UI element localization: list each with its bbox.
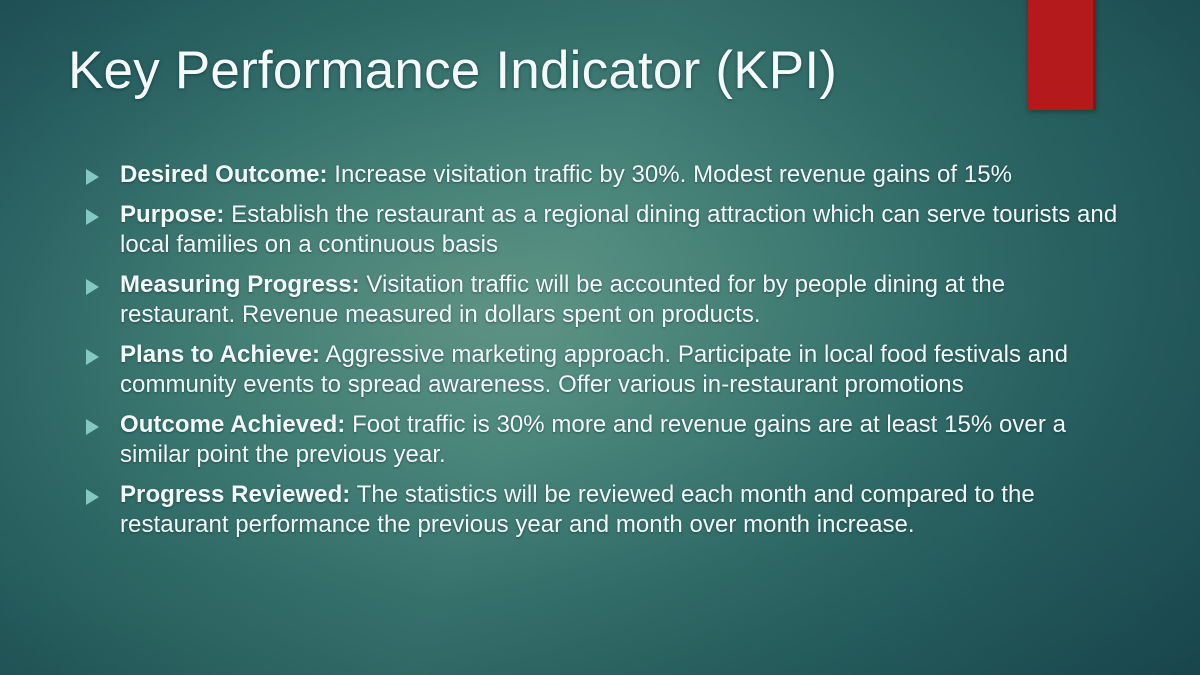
bullet-paragraph: Outcome Achieved: Foot traffic is 30% mo… [120,410,1126,471]
list-item: Outcome Achieved: Foot traffic is 30% mo… [84,410,1126,471]
bullet-paragraph: Measuring Progress: Visitation traffic w… [120,270,1126,331]
bullet-body: Establish the restaurant as a regional d… [120,201,1117,259]
bullet-label: Progress Reviewed: [120,481,350,508]
list-item: Desired Outcome: Increase visitation tra… [84,160,1126,191]
list-item: Progress Reviewed: The statistics will b… [84,480,1126,541]
list-item: Purpose: Establish the restaurant as a r… [84,200,1126,261]
triangle-bullet-icon [86,279,99,295]
bullet-paragraph: Progress Reviewed: The statistics will b… [120,480,1126,541]
slide-title: Key Performance Indicator (KPI) [68,43,1028,99]
bullet-body: Increase visitation traffic by 30%. Mode… [328,161,1012,188]
list-item: Plans to Achieve: Aggressive marketing a… [84,340,1126,401]
bullet-list: Desired Outcome: Increase visitation tra… [84,160,1126,541]
triangle-bullet-icon [86,489,99,505]
bullet-label: Desired Outcome: [120,161,328,188]
red-accent-block [1028,0,1096,110]
triangle-bullet-icon [86,419,99,435]
triangle-bullet-icon [86,349,99,365]
bullet-paragraph: Purpose: Establish the restaurant as a r… [120,200,1126,261]
triangle-bullet-icon [86,169,99,185]
bullet-label: Outcome Achieved: [120,411,345,438]
bullet-paragraph: Desired Outcome: Increase visitation tra… [120,160,1126,191]
list-item: Measuring Progress: Visitation traffic w… [84,270,1126,331]
bullet-label: Plans to Achieve: [120,341,320,368]
bullet-label: Purpose: [120,201,224,228]
bullet-label: Measuring Progress: [120,271,360,298]
triangle-bullet-icon [86,209,99,225]
presentation-slide: Key Performance Indicator (KPI) Desired … [0,0,1200,675]
bullet-paragraph: Plans to Achieve: Aggressive marketing a… [120,340,1126,401]
